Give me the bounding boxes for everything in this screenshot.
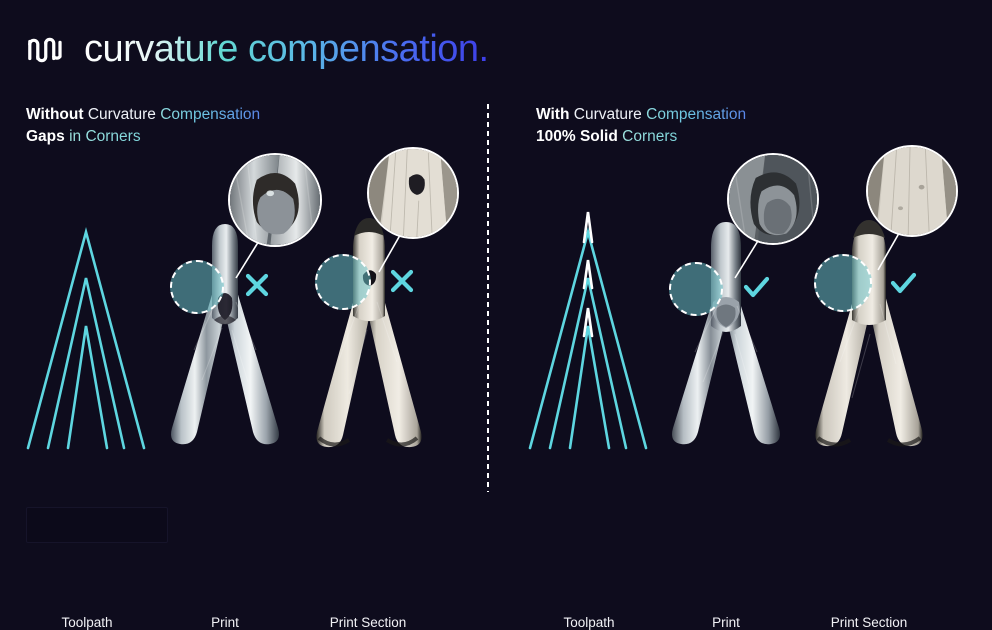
heading-line-1: With Curvature Compensation [536, 104, 746, 126]
column-print-without: Print [150, 150, 300, 450]
heading-line-2: Gaps in Corners [26, 126, 260, 148]
heading-gradient-2: Corners [622, 128, 677, 145]
heading-strong-2: Gaps [26, 128, 65, 145]
section-void-closeup [367, 147, 459, 239]
footer-placeholder-box [26, 507, 168, 543]
heading-gradient: Compensation [160, 106, 260, 123]
heading-line-1: Without Curvature Compensation [26, 104, 260, 126]
section-solid-closeup [866, 145, 958, 237]
hotspot-corner-region[interactable] [669, 262, 723, 316]
column-toolpath-without: Toolpath [12, 150, 162, 450]
hotspot-corner-region[interactable] [170, 260, 224, 314]
column-caption: Print [651, 615, 801, 630]
column-caption: Print Section [293, 615, 443, 630]
heading-gradient-2: in Corners [69, 128, 141, 145]
check-mark-icon [888, 268, 918, 298]
heading-gradient: Compensation [646, 106, 746, 123]
heading-strong-2: 100% Solid [536, 128, 618, 145]
x-mark-icon [242, 270, 272, 300]
column-print-section-with: Print Section [794, 150, 944, 450]
hotspot-section-region[interactable] [315, 254, 371, 310]
panel-heading-without: Without Curvature Compensation Gaps in C… [26, 104, 260, 148]
x-mark-icon [387, 266, 417, 296]
column-toolpath-with: Toolpath [514, 150, 664, 450]
column-caption: Print Section [794, 615, 944, 630]
column-print-section-without: Print Section [293, 150, 443, 450]
column-caption: Toolpath [514, 615, 664, 630]
column-caption: Print [150, 615, 300, 630]
magnifier-section-solid [866, 145, 958, 237]
column-caption: Toolpath [12, 615, 162, 630]
toolpath-chevrons-with-compensation [514, 150, 664, 460]
magnifier-section-void [367, 147, 459, 239]
panel-heading-with: With Curvature Compensation 100% Solid C… [536, 104, 746, 148]
hotspot-section-region[interactable] [814, 254, 872, 312]
heading-plain: Curvature [574, 106, 642, 123]
check-mark-icon [741, 272, 771, 302]
slide-canvas: curvature compensation. Without Curvatur… [0, 0, 992, 557]
column-print-with: Print [651, 150, 801, 450]
panel-without-compensation: Without Curvature Compensation Gaps in C… [0, 0, 488, 557]
heading-strong: Without [26, 106, 84, 123]
heading-strong: With [536, 106, 569, 123]
heading-plain: Curvature [88, 106, 156, 123]
toolpath-chevrons-no-compensation [12, 150, 162, 460]
heading-line-2: 100% Solid Corners [536, 126, 746, 148]
panel-with-compensation: With Curvature Compensation 100% Solid C… [504, 0, 992, 557]
